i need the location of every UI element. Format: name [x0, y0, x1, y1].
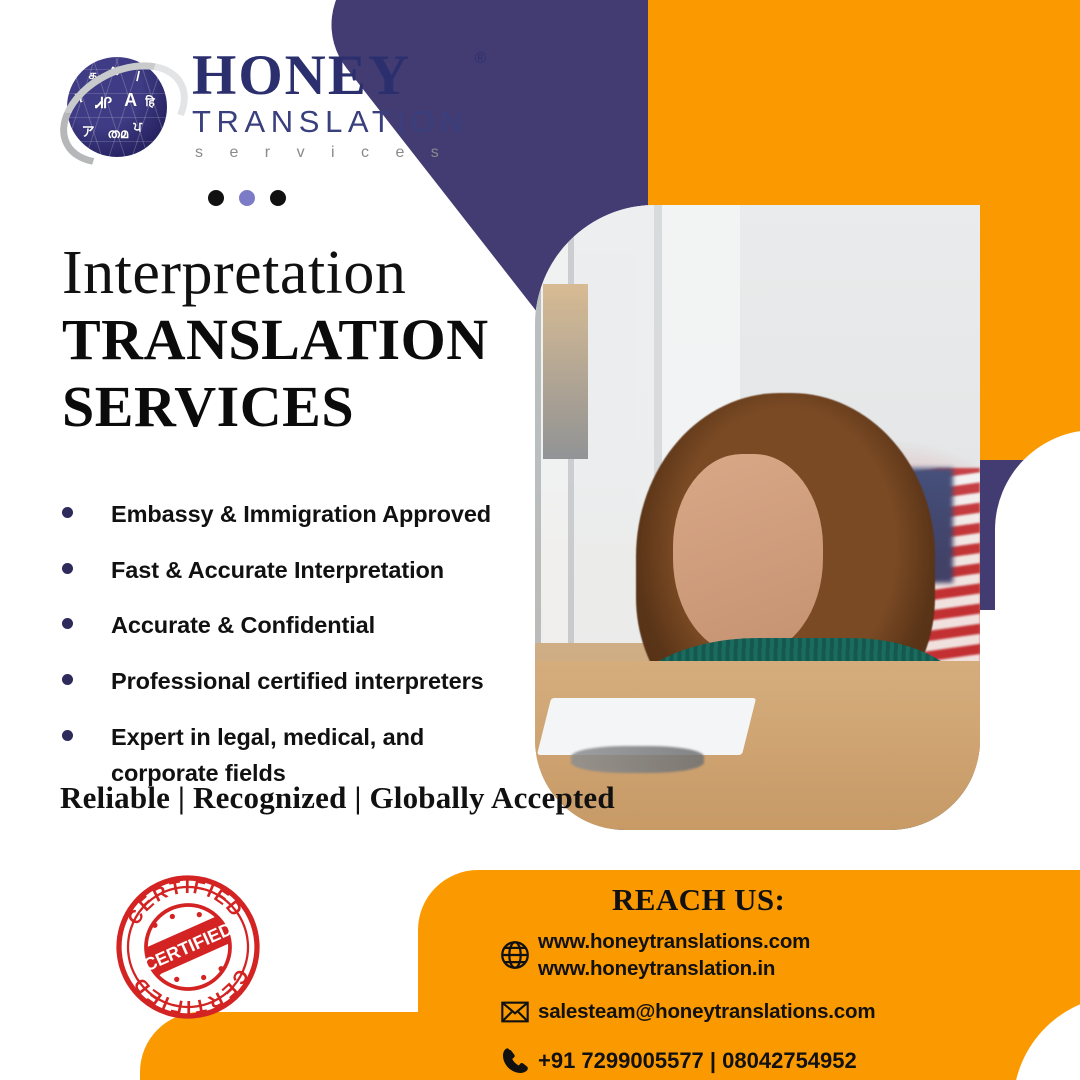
contact-row-phone[interactable]: +91 7299005577 | 08042754952: [492, 1041, 1052, 1080]
contact-list: www.honeytranslations.com www.honeytrans…: [492, 928, 1052, 1080]
svg-text:CERTIFIED: CERTIFIED: [127, 965, 256, 1023]
bullet-dot-icon: [62, 507, 73, 518]
feature-text: Fast & Accurate Interpretation: [111, 553, 444, 589]
headline-script: Interpretation: [62, 238, 406, 309]
list-item: Professional certified interpreters: [56, 664, 526, 700]
website-text: www.honeytranslations.com www.honeytrans…: [538, 928, 810, 983]
globe-logo-icon: க អ ا ગ ᏗᎵ A हि ア തമ ਪ: [58, 48, 176, 166]
bullet-dot-icon: [62, 730, 73, 741]
feature-text: Embassy & Immigration Approved: [111, 497, 491, 533]
dot-1: [208, 190, 224, 206]
list-item: Embassy & Immigration Approved: [56, 497, 526, 533]
tagline: Reliable | Recognized | Globally Accepte…: [60, 780, 615, 816]
website-line-1[interactable]: www.honeytranslations.com: [538, 928, 810, 955]
stamp-arc-top-text: CERTIFIED: [120, 871, 249, 929]
logo-wordmark: HONEY ® TRANSLATION s e r v i c e s: [192, 49, 468, 166]
registered-trademark-icon: ®: [475, 51, 489, 66]
globe-icon: [492, 935, 538, 975]
svg-text:CERTIFIED: CERTIFIED: [120, 871, 249, 929]
list-item: Fast & Accurate Interpretation: [56, 553, 526, 589]
feature-text: Professional certified interpreters: [111, 664, 484, 700]
logo-brand-name: HONEY ®: [192, 49, 468, 103]
phone-icon: [492, 1041, 538, 1080]
envelope-icon: [492, 992, 538, 1032]
dot-3: [270, 190, 286, 206]
website-line-2[interactable]: www.honeytranslation.in: [538, 955, 810, 982]
headline-line-1: TRANSLATION: [62, 306, 489, 373]
contact-row-website[interactable]: www.honeytranslations.com www.honeytrans…: [492, 928, 1052, 983]
stamp-arc-bottom-text: CERTIFIED: [127, 965, 256, 1023]
certified-stamp-icon: CERTIFIED CERTIFIED CERTIFIED: [103, 867, 273, 1028]
logo-tertiary-line: s e r v i c e s: [192, 141, 468, 165]
headline-line-2: SERVICES: [62, 373, 489, 440]
headline-main: TRANSLATION SERVICES: [62, 306, 489, 441]
dot-2: [239, 190, 255, 206]
bullet-dot-icon: [62, 618, 73, 629]
bullet-dot-icon: [62, 674, 73, 685]
phone-text[interactable]: +91 7299005577 | 08042754952: [538, 1046, 857, 1075]
reach-us-heading: REACH US:: [612, 882, 785, 918]
list-item: Accurate & Confidential: [56, 608, 526, 644]
contact-row-email[interactable]: salesteam@honeytranslations.com: [492, 992, 1052, 1032]
interpreter-photo: [535, 205, 980, 830]
poster-canvas: க អ ا ગ ᏗᎵ A हि ア തമ ਪ HONEY ® TRANSLATI…: [0, 0, 1080, 1080]
feature-list: Embassy & Immigration Approved Fast & Ac…: [56, 497, 526, 811]
logo-brand-name-text: HONEY: [192, 44, 411, 107]
brand-logo[interactable]: க អ ا ગ ᏗᎵ A हि ア തമ ਪ HONEY ® TRANSLATI…: [58, 48, 468, 166]
decorative-dots: [208, 190, 286, 206]
email-text[interactable]: salesteam@honeytranslations.com: [538, 998, 875, 1025]
feature-text: Accurate & Confidential: [111, 608, 375, 644]
photo-face: [673, 454, 823, 655]
logo-subtitle: TRANSLATION: [192, 103, 468, 142]
bullet-dot-icon: [62, 563, 73, 574]
